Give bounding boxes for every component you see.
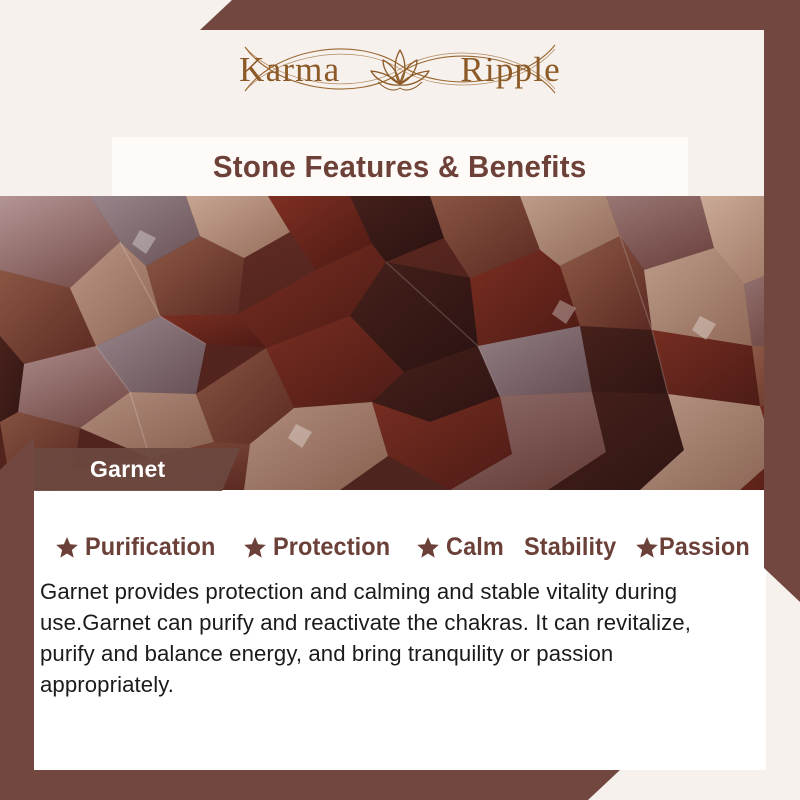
frame-bar-bottom xyxy=(0,770,620,800)
star-icon xyxy=(636,537,658,558)
title-band: Stone Features & Benefits xyxy=(112,137,688,196)
feature-label: Purification xyxy=(85,533,215,562)
frame-bar-top xyxy=(200,0,800,30)
frame-bar-right xyxy=(764,0,800,602)
feature-passion: Passion xyxy=(636,533,756,562)
stone-name-banner: Garnet xyxy=(34,448,240,491)
star-icon xyxy=(417,537,439,558)
feature-purification: Purification xyxy=(56,533,224,562)
frame-bar-left xyxy=(0,436,34,800)
brand-logo: Karma Ripple xyxy=(0,22,800,116)
features-row: Purification Protection Calm Stability P… xyxy=(34,527,774,567)
feature-stability: Stability xyxy=(524,533,622,562)
star-icon xyxy=(56,537,78,558)
page-title: Stone Features & Benefits xyxy=(213,149,587,185)
stone-description: Garnet provides protection and calming a… xyxy=(40,576,745,700)
brand-word-right: Ripple xyxy=(460,52,561,87)
stone-name-label: Garnet xyxy=(34,458,211,481)
feature-label: Calm xyxy=(446,533,504,562)
feature-protection: Protection xyxy=(244,533,398,562)
garnet-crystal-cluster-photo xyxy=(0,196,800,490)
feature-calm: Calm xyxy=(417,533,508,562)
feature-label: Stability xyxy=(524,533,616,562)
feature-label: Protection xyxy=(273,533,390,562)
feature-label: Passion xyxy=(659,533,750,562)
star-icon xyxy=(244,537,266,558)
brand-word-left: Karma xyxy=(239,52,340,87)
